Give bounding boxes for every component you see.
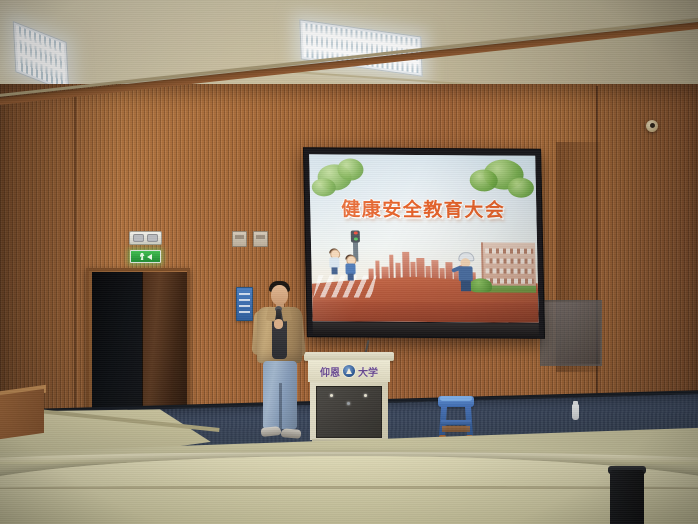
lamp [147, 234, 158, 242]
sneaker [281, 428, 302, 439]
podium-text-left: 仰恩 [320, 364, 340, 379]
running-man-icon [140, 253, 145, 260]
foreground-counter [0, 456, 698, 524]
auditorium-scene: 健康安全教育大会 [0, 0, 698, 524]
counter-groove [0, 486, 698, 489]
podium-knob[interactable] [347, 402, 350, 405]
traffic-policeman-icon [455, 252, 476, 292]
arrow-icon [147, 254, 152, 260]
stool-rail [441, 420, 471, 425]
signal-box [351, 230, 360, 242]
podium-front-panel [316, 386, 382, 438]
emergency-light-icon [129, 231, 162, 245]
emblem-mark [346, 368, 352, 374]
wooden-block [0, 389, 44, 439]
podium-name-band: 仰恩 大学 [308, 360, 390, 382]
jeans-seam [279, 383, 282, 429]
sneaker [261, 426, 282, 437]
wall-switch-plate[interactable] [232, 231, 247, 247]
building-floor [485, 258, 533, 263]
exit-sign-icon [130, 250, 161, 263]
legs [331, 267, 337, 274]
podium-knob[interactable] [330, 394, 333, 397]
switch-slot [235, 235, 244, 239]
building-floor [485, 248, 533, 253]
legs [348, 273, 354, 280]
switch-slot [256, 235, 265, 239]
green-light [353, 238, 357, 241]
building-floor [486, 268, 534, 273]
podium-knob[interactable] [364, 394, 367, 397]
projected-slide: 健康安全教育大会 [309, 154, 539, 323]
wall-sensor-icon [646, 120, 658, 132]
stool-shelf [442, 426, 470, 432]
cartoon-child-boy [343, 255, 358, 281]
slide-road-shade [312, 301, 539, 323]
wall-corner-seam [74, 90, 76, 410]
screen-bottom-bar [313, 322, 539, 337]
stool-seat-top [440, 396, 472, 401]
trash-can[interactable] [610, 470, 644, 524]
wall-switch-plate[interactable] [253, 231, 268, 247]
notice-line [239, 299, 250, 301]
notice-line [239, 293, 250, 295]
bottle-cap [573, 401, 578, 405]
tree-icon [337, 158, 363, 180]
podium-text-right: 大学 [358, 364, 378, 379]
red-light [353, 232, 357, 235]
wall-corner-seam [596, 86, 598, 416]
projection-screen: 健康安全教育大会 [303, 147, 545, 339]
building-floor [486, 278, 534, 283]
slide-title: 健康安全教育大会 [310, 194, 537, 223]
notice-line [239, 305, 250, 307]
lamp [133, 234, 144, 242]
notice-line [239, 311, 250, 313]
wall-panel-window [540, 300, 602, 366]
university-emblem-icon [342, 364, 356, 378]
water-bottle[interactable] [572, 404, 579, 420]
hand [274, 319, 283, 329]
lectern-podium[interactable]: 仰恩 大学 [308, 352, 390, 450]
head [271, 285, 288, 305]
sensor-lens [650, 123, 655, 128]
legs [461, 280, 471, 291]
door-leaf[interactable] [142, 272, 187, 424]
presenter-with-microphone [251, 279, 307, 451]
tree-icon [469, 169, 497, 191]
cartoon-child-girl [327, 249, 342, 275]
